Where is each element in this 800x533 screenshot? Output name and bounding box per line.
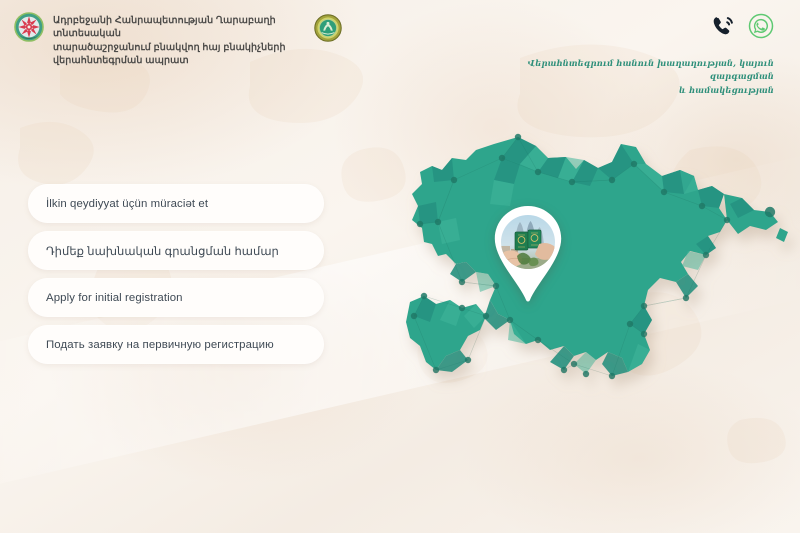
apply-initial-registration-en-button[interactable]: Apply for initial registration xyxy=(28,278,324,317)
location-pin-photo[interactable] xyxy=(487,204,569,304)
organization-identity: Ադրբեջանի Հանրապետության Ղարաբաղի տնտեսա… xyxy=(14,12,305,68)
migration-service-seal-icon xyxy=(314,14,342,42)
azerbaijan-map xyxy=(398,124,800,424)
azerbaijan-map-svg xyxy=(398,124,800,424)
language-action-menu: İlkin qeydiyyat üçün müraciət et Դիմեք ն… xyxy=(28,184,324,364)
azerbaijan-state-emblem-icon xyxy=(14,12,44,42)
contact-icons xyxy=(710,13,774,39)
org-title-line-1: Ադրբեջանի Հանրապետության Ղարաբաղի տնտեսա… xyxy=(53,14,305,41)
apply-initial-registration-az-button[interactable]: İlkin qeydiyyat üçün müraciət et xyxy=(28,184,324,223)
organization-title: Ադրբեջանի Հանրապետության Ղարաբաղի տնտեսա… xyxy=(53,12,305,68)
apply-initial-registration-ru-button[interactable]: Подать заявку на первичную регистрацию xyxy=(28,325,324,364)
whatsapp-icon[interactable] xyxy=(748,13,774,39)
tagline-line-1: Վերահնտեգրում հանուն խաղաղության, կայուն… xyxy=(474,57,774,84)
org-title-line-3: վերահնտեգրման ապրատ xyxy=(53,54,305,67)
apply-initial-registration-hy-button[interactable]: Դիմեք նախնական գրանցման համար xyxy=(28,231,324,270)
tagline-line-2: և համակեցության xyxy=(474,84,774,97)
app-background: Ադրբեջանի Հանրապետության Ղարաբաղի տնտեսա… xyxy=(0,0,800,533)
org-title-line-2: տարածաշրջանում բնակվող հայ բնակիչների xyxy=(53,41,305,54)
phone-call-icon[interactable] xyxy=(710,13,736,39)
page-header: Ադրբեջանի Հանրապետության Ղարաբաղի տնտեսա… xyxy=(0,0,800,96)
tagline: Վերահնտեգրում հանուն խաղաղության, կայուն… xyxy=(474,57,774,97)
